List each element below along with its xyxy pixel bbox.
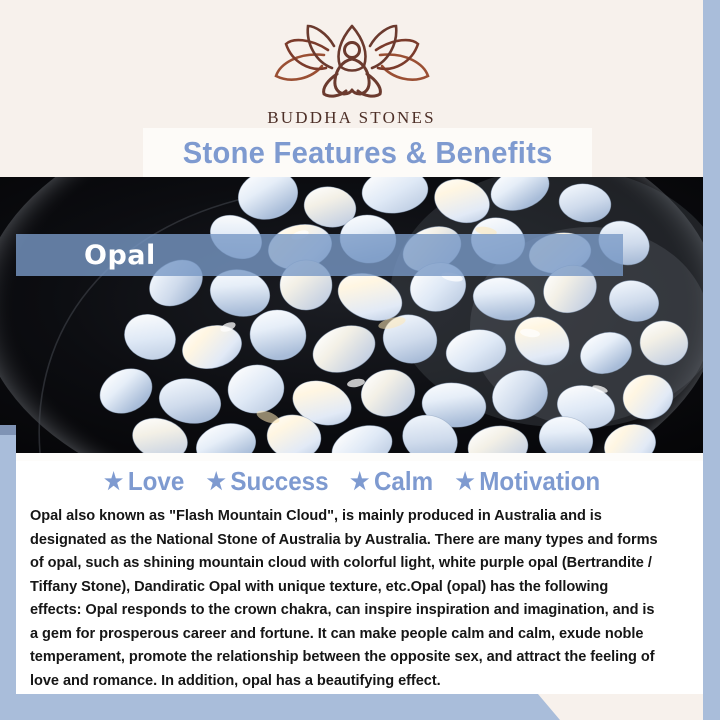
brand-name: BUDDHA STONES — [0, 108, 703, 128]
benefit-calm: ★ Calm — [350, 466, 433, 497]
description-panel: ★ Love ★ Success ★ Calm ★ Motivation Opa… — [16, 453, 703, 694]
photo-graphic — [0, 177, 703, 453]
benefit-label: Motivation — [479, 466, 600, 497]
opal-stones-photo — [0, 177, 703, 453]
benefit-love: ★ Love — [104, 466, 184, 497]
star-icon: ★ — [350, 470, 369, 493]
product-info-page: BUDDHA STONES Stone Features & Benefits — [0, 0, 720, 720]
bottom-accent-band — [0, 694, 720, 720]
benefit-label: Love — [128, 466, 184, 497]
section-title-band: Stone Features & Benefits — [143, 128, 592, 177]
page-title: Stone Features & Benefits — [183, 135, 553, 171]
star-icon: ★ — [206, 470, 225, 493]
left-accent-band-shadow — [0, 425, 16, 435]
benefits-row: ★ Love ★ Success ★ Calm ★ Motivation — [16, 461, 703, 497]
right-accent-band — [703, 0, 720, 720]
star-icon: ★ — [455, 470, 474, 493]
benefit-success: ★ Success — [206, 466, 328, 497]
benefit-motivation: ★ Motivation — [455, 466, 600, 497]
benefit-label: Calm — [374, 466, 433, 497]
description-text: Opal also known as "Flash Mountain Cloud… — [30, 504, 662, 692]
lotus-meditation-icon — [262, 22, 442, 106]
benefit-label: Success — [230, 466, 328, 497]
brand-logo: BUDDHA STONES — [0, 22, 703, 128]
photo-caption-bar: Opal — [16, 234, 623, 276]
star-icon: ★ — [104, 470, 123, 493]
left-accent-band — [0, 425, 16, 720]
photo-caption-text: Opal — [84, 240, 156, 271]
